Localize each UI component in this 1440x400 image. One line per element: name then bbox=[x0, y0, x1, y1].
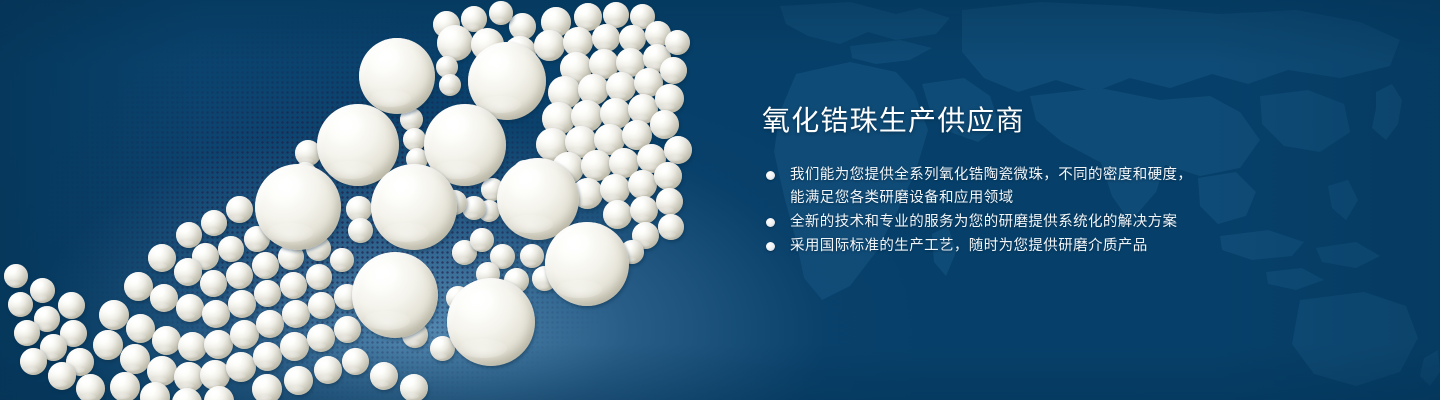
bead bbox=[253, 342, 282, 371]
bead bbox=[226, 262, 253, 289]
bead bbox=[330, 248, 354, 272]
bead bbox=[58, 292, 85, 319]
bead bbox=[76, 374, 105, 400]
bead-large bbox=[545, 222, 629, 306]
bead-large bbox=[352, 252, 438, 338]
bead bbox=[650, 110, 679, 139]
bead bbox=[437, 25, 473, 61]
zirconia-beads-image bbox=[0, 0, 720, 400]
bead-large bbox=[447, 278, 535, 366]
bead bbox=[307, 324, 335, 352]
bead bbox=[4, 264, 28, 288]
bead bbox=[124, 272, 153, 301]
bead bbox=[152, 326, 181, 355]
bead bbox=[314, 356, 342, 384]
bead bbox=[126, 314, 155, 343]
bead bbox=[202, 300, 230, 328]
bead bbox=[664, 136, 692, 164]
bead bbox=[178, 332, 207, 361]
bead bbox=[665, 30, 690, 55]
bead bbox=[20, 348, 47, 375]
bead bbox=[30, 278, 55, 303]
banner-feature-list: 我们能为您提供全系列氧化锆陶瓷微珠，不同的密度和硬度，能满足您各类研磨设备和应用… bbox=[762, 164, 1322, 258]
bead bbox=[226, 352, 256, 382]
bead-large bbox=[255, 164, 341, 250]
list-item: 采用国际标准的生产工艺，随时为您提供研磨介质产品 bbox=[762, 235, 1322, 258]
bead bbox=[654, 162, 682, 190]
bead bbox=[334, 316, 361, 343]
list-item-line1: 全新的技术和专业的服务为您的研磨提供系统化的解决方案 bbox=[790, 214, 1177, 230]
list-item-line2: 能满足您各类研磨设备和应用领域 bbox=[790, 187, 1322, 210]
bead bbox=[150, 284, 178, 312]
bead bbox=[280, 332, 309, 361]
bead bbox=[660, 57, 687, 84]
hero-banner: 氧化锆珠生产供应商 我们能为您提供全系列氧化锆陶瓷微珠，不同的密度和硬度，能满足… bbox=[0, 0, 1440, 400]
bullet-dot-icon bbox=[766, 218, 775, 227]
bead bbox=[348, 218, 373, 243]
bead bbox=[48, 362, 76, 390]
list-item: 全新的技术和专业的服务为您的研磨提供系统化的解决方案 bbox=[762, 211, 1322, 234]
bead bbox=[172, 388, 202, 400]
bead bbox=[218, 236, 244, 262]
bead bbox=[252, 252, 279, 279]
bead bbox=[204, 330, 233, 359]
bead bbox=[200, 270, 227, 297]
bead bbox=[148, 244, 176, 272]
bead bbox=[120, 344, 150, 374]
bead bbox=[628, 170, 657, 199]
bead bbox=[280, 272, 307, 299]
banner-headline: 氧化锆珠生产供应商 bbox=[762, 104, 1322, 138]
bead bbox=[174, 258, 202, 286]
bead bbox=[489, 1, 513, 25]
bead bbox=[284, 366, 313, 395]
bead bbox=[655, 84, 684, 113]
bullet-dot-icon bbox=[766, 171, 775, 180]
bead bbox=[256, 310, 284, 338]
bead-large bbox=[359, 38, 435, 114]
list-item-label: 全新的技术和专业的服务为您的研磨提供系统化的解决方案 bbox=[790, 211, 1322, 234]
bead bbox=[14, 320, 40, 346]
bead bbox=[656, 188, 683, 215]
bead-large bbox=[371, 164, 457, 250]
bead bbox=[592, 24, 620, 52]
bead bbox=[99, 300, 129, 330]
banner-copy: 氧化锆珠生产供应商 我们能为您提供全系列氧化锆陶瓷微珠，不同的密度和硬度，能满足… bbox=[762, 104, 1322, 259]
bead bbox=[630, 196, 658, 224]
list-item-label: 采用国际标准的生产工艺，随时为您提供研磨介质产品 bbox=[790, 235, 1322, 258]
bullet-dot-icon bbox=[766, 242, 775, 251]
bead bbox=[534, 30, 565, 61]
bead bbox=[228, 290, 256, 318]
bead bbox=[439, 74, 461, 96]
bead bbox=[201, 210, 227, 236]
bead bbox=[230, 320, 259, 349]
bead bbox=[306, 264, 332, 290]
list-item-line1: 采用国际标准的生产工艺，随时为您提供研磨介质产品 bbox=[790, 238, 1148, 254]
bead bbox=[226, 196, 253, 223]
bead bbox=[110, 372, 140, 400]
bead bbox=[308, 292, 335, 319]
bead bbox=[603, 200, 632, 229]
bead bbox=[282, 300, 310, 328]
list-item-label: 我们能为您提供全系列氧化锆陶瓷微珠，不同的密度和硬度，能满足您各类研磨设备和应用… bbox=[790, 164, 1322, 210]
bead bbox=[254, 280, 281, 307]
bead bbox=[252, 374, 282, 400]
list-item: 我们能为您提供全系列氧化锆陶瓷微珠，不同的密度和硬度，能满足您各类研磨设备和应用… bbox=[762, 164, 1322, 210]
bead bbox=[658, 214, 684, 240]
bead bbox=[8, 292, 33, 317]
bead bbox=[470, 228, 494, 252]
bead bbox=[370, 362, 398, 390]
list-item-line1: 我们能为您提供全系列氧化锆陶瓷微珠，不同的密度和硬度， bbox=[790, 167, 1192, 183]
bead bbox=[400, 374, 428, 400]
bead bbox=[342, 348, 369, 375]
bead bbox=[176, 294, 204, 322]
bead bbox=[520, 244, 544, 268]
bead bbox=[93, 330, 123, 360]
